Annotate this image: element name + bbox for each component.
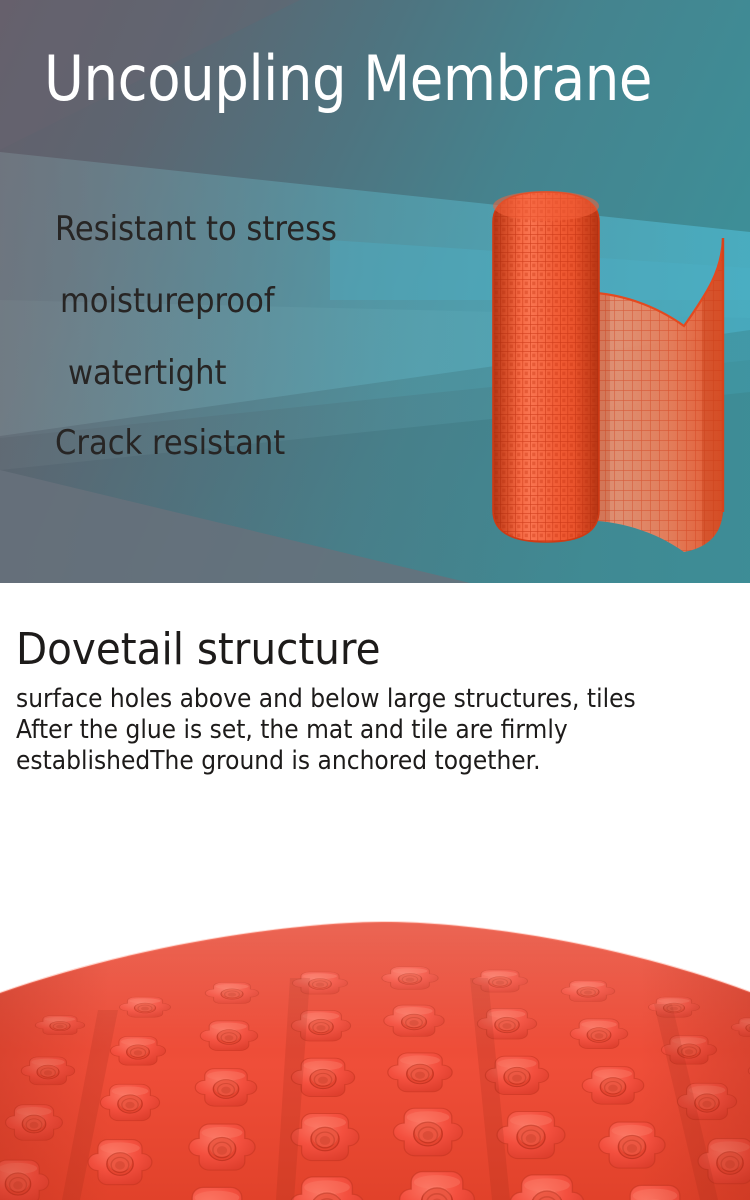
membrane-roll-image: [470, 180, 750, 555]
dovetail-mat-photo: [0, 900, 750, 1200]
section-body: surface holes above and below large stru…: [16, 684, 736, 777]
feature-list: Resistant to stress moistureproof watert…: [0, 212, 430, 460]
product-detail-page: Uncoupling Membrane Resistant to stress …: [0, 0, 750, 1200]
hero-banner: Uncoupling Membrane Resistant to stress …: [0, 0, 750, 583]
body-line-1: After the glue is set, the mat and tile …: [16, 715, 664, 746]
roll-top-cap: [493, 191, 599, 221]
body-line-0: surface holes above and below large stru…: [16, 684, 664, 715]
membrane-roll-cylinder: [490, 188, 604, 548]
page-title: Uncoupling Membrane: [44, 48, 660, 110]
dovetail-mat-illustration: [0, 900, 750, 1200]
body-line-2: establishedThe ground is anchored togeth…: [16, 746, 664, 777]
mat-surface: [0, 920, 750, 1200]
feature-item-2: watertight: [68, 356, 394, 390]
feature-item-0: Resistant to stress: [55, 212, 393, 246]
feature-item-3: Crack resistant: [55, 426, 393, 460]
info-section: Dovetail structure surface holes above a…: [0, 583, 750, 935]
feature-item-1: moistureproof: [60, 284, 393, 318]
section-heading: Dovetail structure: [16, 628, 381, 672]
